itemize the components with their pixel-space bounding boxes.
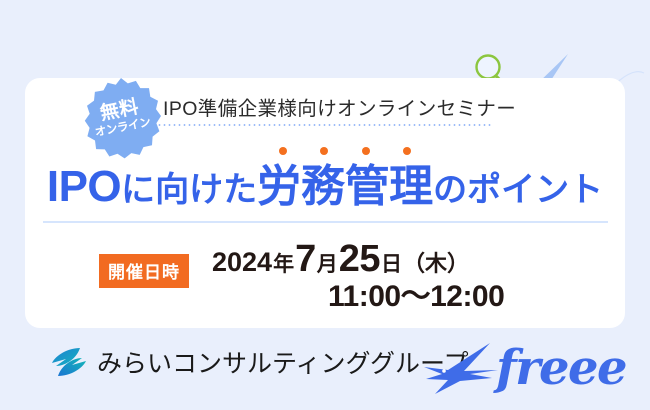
- freee-swallow-icon: [420, 340, 498, 396]
- seminar-banner: 無料 オンライン IPO準備企業様向けオンラインセミナー IPOに向けた労務管理…: [0, 0, 650, 410]
- schedule-label-badge: 開催日時: [99, 254, 189, 288]
- mirai-swoosh-icon: [50, 346, 88, 378]
- title-lead: IPO: [47, 162, 121, 211]
- schedule-date: 2024年7月25日（木）: [212, 240, 469, 278]
- mirai-logo-wordmark: みらいコンサルティンググループ: [97, 344, 469, 380]
- free-online-badge: 無料 オンライン: [80, 77, 162, 159]
- mirai-consulting-logo: みらいコンサルティンググループ: [50, 344, 469, 380]
- section-divider: [43, 221, 608, 223]
- schedule-time-range: 11:00〜12:00: [328, 282, 504, 312]
- freee-logo: freee: [420, 340, 626, 396]
- schedule-day-unit: 日: [381, 253, 402, 276]
- freee-logo-wordmark: freee: [496, 344, 626, 392]
- title-emphasis: 労務管理: [257, 162, 433, 211]
- title-emphasis-text: 労務管理: [257, 162, 433, 211]
- schedule-day-value: 25: [339, 238, 380, 280]
- schedule-year-unit: 年: [273, 253, 294, 276]
- seminar-subtitle: IPO準備企業様向けオンラインセミナー: [163, 92, 516, 121]
- schedule-day-of-week: （木）: [403, 251, 469, 276]
- subtitle-dotted-divider: [152, 124, 492, 126]
- title-tail: のポイント: [433, 171, 603, 209]
- title-emphasis-dots: [257, 147, 433, 155]
- schedule-month-unit: 月: [317, 253, 338, 276]
- title-connector: に向けた: [121, 171, 257, 209]
- schedule-month-value: 7: [295, 238, 316, 280]
- schedule-year-value: 2024: [212, 247, 272, 277]
